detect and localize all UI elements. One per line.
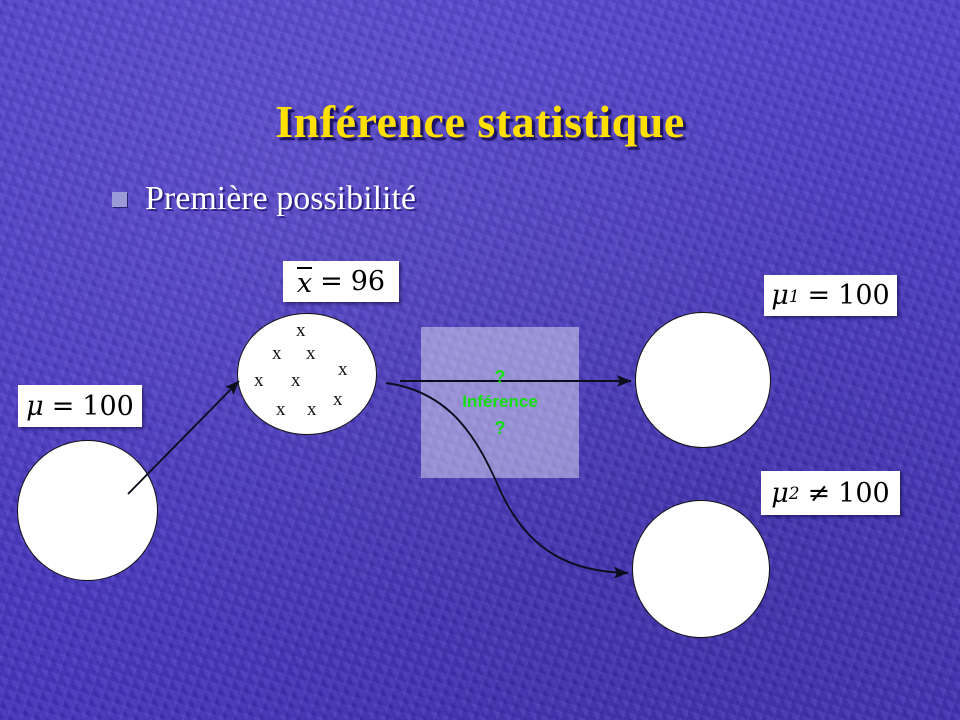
formula-op: ≠: [808, 478, 831, 509]
formula-population-mu: μ=100: [18, 385, 142, 427]
formula-value: 100: [838, 280, 890, 311]
observation-x: x: [333, 390, 343, 409]
inference-panel: [421, 327, 579, 478]
slide-canvas: Inférence statistique Première possibili…: [0, 0, 960, 720]
square-bullet-icon: [112, 192, 127, 207]
formula-hypothesis-2: μ2≠100: [761, 471, 900, 515]
observation-x: x: [306, 344, 316, 363]
formula-subscript: 1: [789, 286, 800, 306]
formula-subscript: 2: [789, 483, 800, 503]
formula-op: =: [52, 391, 75, 422]
formula-op: =: [320, 266, 343, 297]
population-circle: [17, 440, 158, 581]
formula-var: μ: [26, 391, 44, 422]
observation-x: x: [307, 400, 317, 419]
formula-hypothesis-1: μ1=100: [764, 275, 897, 316]
hypothesis-2-circle: [632, 500, 770, 638]
hypothesis-1-circle: [635, 312, 771, 448]
observation-x: x: [272, 344, 282, 363]
page-title: Inférence statistique: [0, 95, 960, 148]
formula-op: =: [808, 280, 831, 311]
formula-var-overbar: x: [297, 267, 312, 297]
formula-value: 100: [838, 478, 890, 509]
formula-value: 100: [82, 391, 134, 422]
observation-x: x: [296, 321, 306, 340]
formula-sample-mean: x=96: [283, 261, 399, 302]
sample-circle: x x x x x x x x x: [237, 313, 377, 435]
bullet-row: Première possibilité: [112, 180, 416, 218]
observation-x: x: [291, 371, 301, 390]
bullet-text: Première possibilité: [145, 180, 416, 218]
observation-x: x: [338, 360, 348, 379]
formula-var: μ: [771, 478, 789, 509]
observation-x: x: [254, 371, 264, 390]
formula-var: μ: [771, 280, 789, 311]
observation-x: x: [276, 400, 286, 419]
formula-value: 96: [351, 266, 385, 297]
